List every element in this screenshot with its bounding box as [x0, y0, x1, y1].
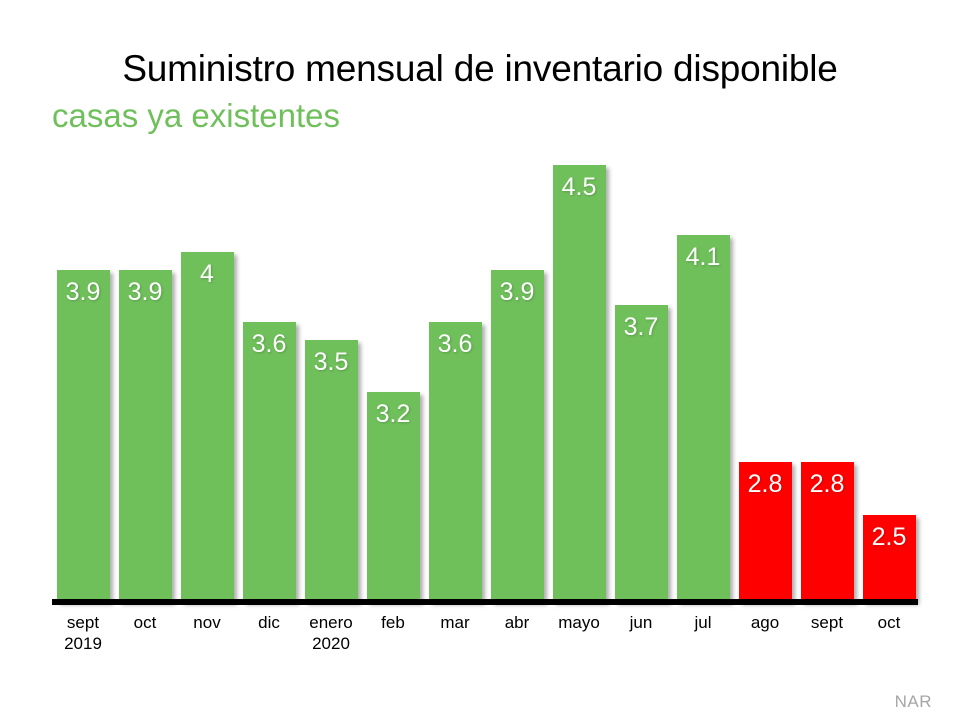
bar[interactable]: 2.5	[863, 515, 916, 602]
x-axis-line	[52, 599, 918, 605]
x-axis-tick: oct	[114, 612, 176, 654]
bar-slot: 3.7	[610, 130, 672, 602]
bar-value-label: 3.5	[305, 348, 358, 376]
tick-label-line1: nov	[193, 613, 220, 632]
x-axis-tick: sept2019	[52, 612, 114, 654]
x-axis-tick-labels: sept2019octnovdicenero2020febmarabrmayoj…	[52, 612, 922, 654]
x-axis-tick: oct	[858, 612, 920, 654]
bar[interactable]: 3.9	[119, 270, 172, 602]
tick-label-line1: jul	[694, 613, 711, 632]
tick-label-line1: mar	[440, 613, 469, 632]
x-axis-tick: jun	[610, 612, 672, 654]
tick-label-line1: jun	[630, 613, 653, 632]
x-axis-tick: enero2020	[300, 612, 362, 654]
x-axis-tick: mayo	[548, 612, 610, 654]
bar-slot: 3.6	[238, 130, 300, 602]
bar[interactable]: 3.7	[615, 305, 668, 602]
x-axis-tick: jul	[672, 612, 734, 654]
bar-value-label: 3.9	[491, 278, 544, 306]
bar-slot: 2.8	[734, 130, 796, 602]
bar[interactable]: 4.5	[553, 165, 606, 602]
bar-value-label: 2.8	[801, 470, 854, 498]
tick-label-line1: mayo	[558, 613, 600, 632]
x-axis-tick: mar	[424, 612, 486, 654]
tick-label-line1: feb	[381, 613, 405, 632]
tick-label-line1: sept	[811, 613, 843, 632]
bar-slot: 4	[176, 130, 238, 602]
x-axis-tick: abr	[486, 612, 548, 654]
bar[interactable]: 3.9	[57, 270, 110, 602]
bar-value-label: 4	[181, 260, 234, 288]
tick-label-line1: oct	[878, 613, 901, 632]
bar-value-label: 3.7	[615, 313, 668, 341]
tick-label-line1: enero	[309, 613, 352, 632]
bar-slot: 3.9	[52, 130, 114, 602]
x-axis-tick: ago	[734, 612, 796, 654]
tick-label-line2: 2020	[300, 633, 362, 654]
bar[interactable]: 3.6	[243, 322, 296, 602]
x-axis-tick: nov	[176, 612, 238, 654]
bar[interactable]: 4.1	[677, 235, 730, 602]
bar[interactable]: 3.5	[305, 340, 358, 602]
bar-value-label: 3.6	[429, 330, 482, 358]
bar[interactable]: 2.8	[739, 462, 792, 602]
bar-slot: 4.1	[672, 130, 734, 602]
tick-label-line1: abr	[505, 613, 530, 632]
bar-value-label: 3.6	[243, 330, 296, 358]
bar[interactable]: 3.2	[367, 392, 420, 602]
tick-label-line1: oct	[134, 613, 157, 632]
slide-canvas: Suministro mensual de inventario disponi…	[0, 0, 960, 720]
bar-value-label: 2.5	[863, 523, 916, 551]
page-title: Suministro mensual de inventario disponi…	[0, 46, 960, 92]
bar-value-label: 4.5	[553, 173, 606, 201]
tick-label-line1: dic	[258, 613, 280, 632]
bar-value-label: 4.1	[677, 243, 730, 271]
bar-value-label: 3.9	[119, 278, 172, 306]
bar[interactable]: 3.9	[491, 270, 544, 602]
chart-plot-area: 3.93.943.63.53.23.63.94.53.74.12.82.82.5	[52, 130, 922, 602]
bar-value-label: 3.2	[367, 400, 420, 428]
bar-slot: 3.9	[486, 130, 548, 602]
x-axis-tick: sept	[796, 612, 858, 654]
bar-slot: 3.5	[300, 130, 362, 602]
tick-label-line2: 2019	[52, 633, 114, 654]
tick-label-line1: sept	[67, 613, 99, 632]
bar[interactable]: 3.6	[429, 322, 482, 602]
x-axis-tick: feb	[362, 612, 424, 654]
bar-slot: 3.2	[362, 130, 424, 602]
bar-value-label: 2.8	[739, 470, 792, 498]
bar-series: 3.93.943.63.53.23.63.94.53.74.12.82.82.5	[52, 130, 922, 602]
watermark-nar: NAR	[895, 692, 932, 712]
tick-label-line1: ago	[751, 613, 779, 632]
bar-slot: 2.8	[796, 130, 858, 602]
title-block: Suministro mensual de inventario disponi…	[0, 46, 960, 136]
bar-slot: 4.5	[548, 130, 610, 602]
bar-value-label: 3.9	[57, 278, 110, 306]
bar-slot: 3.6	[424, 130, 486, 602]
bar-slot: 3.9	[114, 130, 176, 602]
bar-slot: 2.5	[858, 130, 920, 602]
bar[interactable]: 4	[181, 252, 234, 602]
x-axis-tick: dic	[238, 612, 300, 654]
bar[interactable]: 2.8	[801, 462, 854, 602]
